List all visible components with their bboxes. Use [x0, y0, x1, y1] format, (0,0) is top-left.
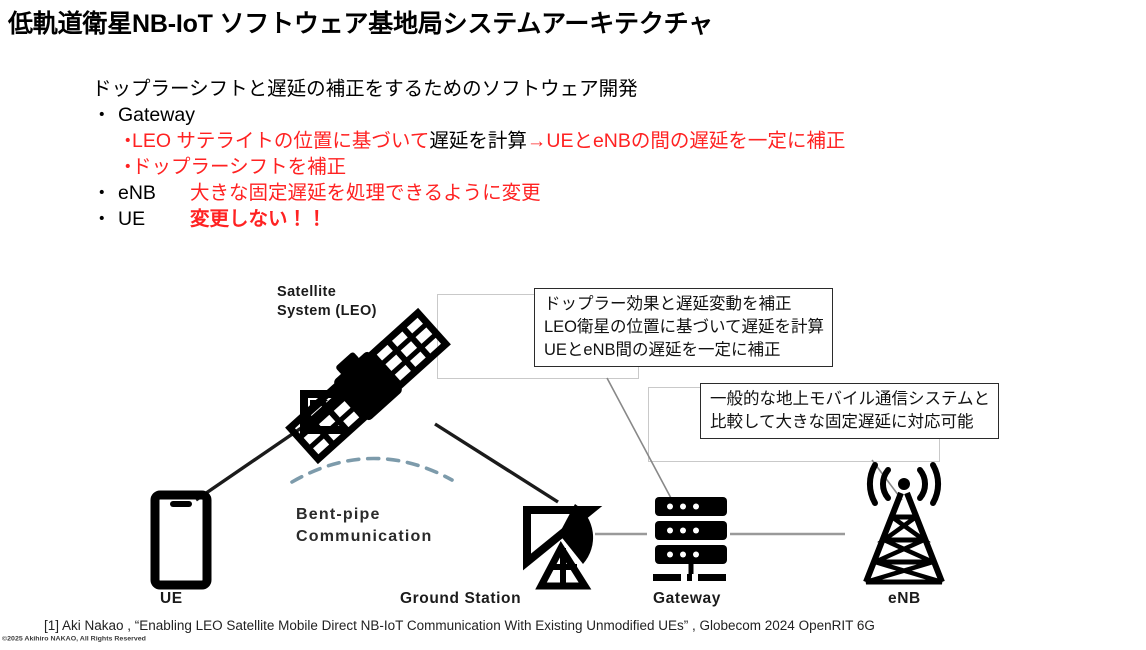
satellite-label-line1: Satellite — [277, 283, 377, 302]
satellite-label-line2: System (LEO) — [277, 302, 377, 321]
copyright-notice: ©2025 Akihiro NAKAO, All Rights Reserved — [2, 636, 146, 642]
bent-pipe-line1: Bent-pipe — [296, 504, 433, 526]
callout-enb: 一般的な地上モバイル通信システムと 比較して大きな固定遅延に対応可能 — [700, 383, 999, 439]
node-label-gateway: Gateway — [653, 590, 721, 608]
beam-satellite-groundstation — [435, 424, 558, 502]
bent-pipe-label: Bent-pipe Communication — [296, 504, 433, 548]
callout-enb-line2: 比較して大きな固定遅延に対応可能 — [710, 411, 990, 434]
node-label-ground-station: Ground Station — [400, 590, 521, 608]
callout-gateway: ドップラー効果と遅延変動を補正 LEO衛星の位置に基づいて遅延を計算 UEとeN… — [534, 288, 833, 367]
slide-root: 低軌道衛星NB-IoT ソフトウェア基地局システムアーキテクチャ ドップラーシフ… — [0, 0, 1146, 650]
satellite-system-label: Satellite System (LEO) — [277, 283, 377, 321]
callout-enb-line1: 一般的な地上モバイル通信システムと — [710, 388, 990, 411]
node-label-ue: UE — [160, 590, 183, 608]
callout-gateway-line2: LEO衛星の位置に基づいて遅延を計算 — [544, 316, 824, 339]
server-rack-icon — [653, 497, 727, 581]
cell-tower-icon — [866, 465, 942, 582]
bent-pipe-arc — [292, 458, 452, 482]
bent-pipe-line2: Communication — [296, 526, 433, 548]
satellite-dish-icon — [527, 504, 593, 586]
reference-citation: [1] Aki Nakao , “Enabling LEO Satellite … — [44, 618, 875, 633]
callout-gateway-line3: UEとeNB間の遅延を一定に補正 — [544, 339, 824, 362]
node-label-enb: eNB — [888, 590, 921, 608]
satellite-icon — [280, 302, 450, 464]
leader-line-gateway — [607, 378, 672, 500]
beam-ue-satellite — [196, 424, 307, 500]
callout-gateway-line1: ドップラー効果と遅延変動を補正 — [544, 293, 824, 316]
smartphone-icon — [155, 495, 207, 585]
